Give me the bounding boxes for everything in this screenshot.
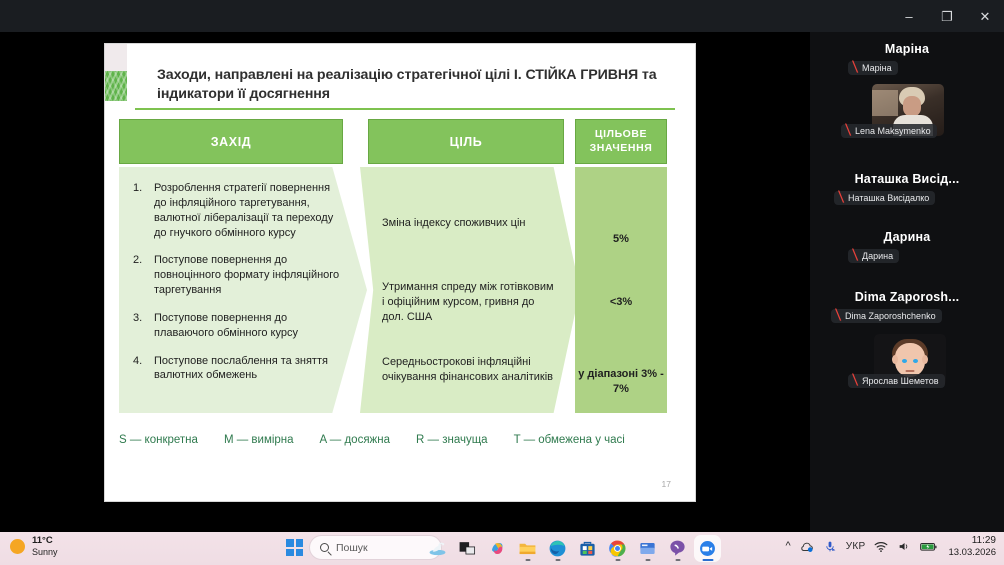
microphone-muted-icon: ╲ bbox=[851, 376, 858, 386]
participant-badge-name: Dima Zaporoshchenko bbox=[845, 311, 936, 321]
avatar-face bbox=[903, 96, 921, 117]
swan-widget-icon[interactable] bbox=[424, 535, 451, 562]
participant-badge: ╲ Дарина bbox=[848, 249, 899, 263]
window-controls: – ❐ ✕ bbox=[890, 0, 1004, 32]
column-header-measure: ЗАХІД bbox=[119, 119, 343, 164]
file-explorer-icon[interactable] bbox=[514, 535, 541, 562]
active-indicator bbox=[702, 559, 713, 561]
windows-taskbar: 11°C Sunny Пошук bbox=[0, 532, 1004, 565]
zoom-meeting-window: – ❐ ✕ Заходи, направлені на реалізацію с… bbox=[0, 0, 1004, 565]
system-tray: ^ УКР bbox=[786, 535, 996, 558]
slide-page-number: 17 bbox=[662, 479, 671, 489]
participant-badge-name: Наташка Висідалко bbox=[848, 193, 929, 203]
smart-item-a: A — досяжна bbox=[320, 434, 390, 446]
list-item-number: 2. bbox=[133, 253, 154, 298]
list-item: 3. Поступове повернення до плаваючого об… bbox=[133, 311, 341, 341]
goal-text: Середньострокові інфляційні очікування ф… bbox=[382, 355, 558, 385]
participants-sidebar[interactable]: Маріна ╲ Маріна ╲ Lena Maksymenko bbox=[810, 32, 1004, 532]
weather-widget[interactable]: 11°C Sunny bbox=[10, 536, 58, 557]
list-item-number: 3. bbox=[133, 311, 154, 341]
participant-badge-name: Маріна bbox=[862, 63, 892, 73]
slide-title: Заходи, направлені на реалізацію стратег… bbox=[157, 66, 677, 103]
avatar-mouth bbox=[906, 370, 915, 372]
decorative-block-pink bbox=[105, 44, 127, 71]
battery-charging-icon[interactable] bbox=[920, 541, 937, 552]
list-item-text: Поступове послаблення та зняття валютних… bbox=[154, 354, 341, 384]
participant-display-name: Наташка Висід... bbox=[810, 162, 1004, 186]
target-value: <3% bbox=[575, 295, 667, 310]
minimize-button[interactable]: – bbox=[890, 0, 928, 32]
column-body-measure: 1. Розроблення стратегії повернення до і… bbox=[119, 167, 367, 413]
participant-badge: ╲ Lena Maksymenko bbox=[841, 124, 937, 138]
taskbar-center: Пошук bbox=[286, 535, 442, 560]
microphone-muted-icon: ╲ bbox=[837, 193, 844, 203]
running-indicator bbox=[675, 559, 680, 561]
maximize-restore-button[interactable]: ❐ bbox=[928, 0, 966, 32]
avatar-ear-right bbox=[922, 355, 928, 364]
wifi-icon[interactable] bbox=[874, 541, 888, 553]
start-button[interactable] bbox=[286, 539, 303, 556]
microphone-muted-icon: ╲ bbox=[851, 251, 858, 261]
goal-text: Утримання спреду між готівковим і офіцій… bbox=[382, 280, 558, 326]
participant-badge: ╲ Dima Zaporoshchenko bbox=[831, 309, 942, 323]
shared-screen-stage: Заходи, направлені на реалізацію стратег… bbox=[0, 32, 810, 532]
running-indicator bbox=[555, 559, 560, 561]
chevron-up-icon[interactable]: ^ bbox=[786, 541, 791, 552]
list-item-number: 1. bbox=[133, 181, 154, 240]
clock-date: 13.03.2026 bbox=[948, 547, 996, 558]
microsoft-edge-icon[interactable] bbox=[544, 535, 571, 562]
clock[interactable]: 11:29 13.03.2026 bbox=[948, 535, 996, 558]
close-button[interactable]: ✕ bbox=[966, 0, 1004, 32]
copilot-icon[interactable] bbox=[484, 535, 511, 562]
onedrive-word-icon[interactable] bbox=[634, 535, 661, 562]
search-placeholder: Пошук bbox=[336, 542, 368, 554]
smart-item-s: S — конкретна bbox=[119, 434, 198, 446]
list-item: 4. Поступове послаблення та зняття валют… bbox=[133, 354, 341, 384]
participant-display-name: Маріна bbox=[810, 32, 1004, 56]
participant-tile[interactable]: Дарина ╲ Дарина bbox=[810, 208, 1004, 270]
decorative-block-green-pattern bbox=[105, 71, 127, 101]
running-indicator bbox=[645, 559, 650, 561]
participant-badge-name: Lena Maksymenko bbox=[855, 126, 931, 136]
weather-condition: Sunny bbox=[32, 547, 58, 557]
smart-item-t: T — обмежена у часі bbox=[514, 434, 625, 446]
cloud-icon[interactable] bbox=[800, 541, 814, 553]
participant-tile[interactable]: Маріна ╲ Маріна bbox=[810, 32, 1004, 78]
language-indicator[interactable]: УКР bbox=[846, 541, 866, 552]
microsoft-store-icon[interactable] bbox=[574, 535, 601, 562]
measure-list: 1. Розроблення стратегії повернення до і… bbox=[133, 181, 341, 396]
column-header-goal: ЦІЛЬ bbox=[368, 119, 564, 164]
list-item-number: 4. bbox=[133, 354, 154, 384]
running-indicator bbox=[615, 559, 620, 561]
column-header-target: ЦІЛЬОВЕ ЗНАЧЕННЯ bbox=[575, 119, 667, 164]
google-chrome-icon[interactable] bbox=[604, 535, 631, 562]
viber-icon[interactable] bbox=[664, 535, 691, 562]
participant-badge: ╲ Наташка Висідалко bbox=[834, 191, 935, 205]
avatar-ear-left bbox=[892, 355, 898, 364]
column-body-target: 5% <3% у діапазоні 3% - 7% bbox=[575, 167, 667, 413]
search-icon bbox=[320, 543, 329, 552]
microphone-muted-icon: ╲ bbox=[851, 63, 858, 73]
avatar-eye-left bbox=[902, 359, 907, 363]
presentation-slide: Заходи, направлені на реалізацію стратег… bbox=[105, 44, 695, 501]
task-view-icon[interactable] bbox=[454, 535, 481, 562]
participant-tile[interactable]: ╲ Ярослав Шеметов bbox=[810, 334, 1004, 406]
participant-badge: ╲ Ярослав Шеметов bbox=[848, 374, 945, 388]
smart-legend: S — конкретна M — вимірна A — досяжна R … bbox=[119, 434, 679, 446]
participant-tile[interactable]: Dima Zaporosh... ╲ Dima Zaporoshchenko bbox=[810, 270, 1004, 328]
title-underline bbox=[135, 108, 675, 110]
weather-temperature: 11°C bbox=[32, 536, 58, 547]
zoom-icon[interactable] bbox=[694, 535, 721, 562]
participant-badge-name: Ярослав Шеметов bbox=[862, 376, 939, 386]
clock-time: 11:29 bbox=[948, 535, 996, 547]
participant-tile[interactable]: ╲ Lena Maksymenko bbox=[810, 84, 1004, 146]
search-input[interactable]: Пошук bbox=[309, 535, 442, 560]
goal-text: Зміна індексу споживчих цін bbox=[382, 216, 558, 231]
list-item-text: Поступове повернення до плаваючого обмін… bbox=[154, 311, 341, 341]
list-item: 1. Розроблення стратегії повернення до і… bbox=[133, 181, 341, 240]
running-indicator bbox=[525, 559, 530, 561]
participant-badge-name: Дарина bbox=[862, 251, 893, 261]
list-item-text: Розроблення стратегії повернення до інфл… bbox=[154, 181, 341, 240]
participant-display-name: Дарина bbox=[810, 220, 1004, 244]
list-item-text: Поступове повернення до повноцінного фор… bbox=[154, 253, 341, 298]
microphone-muted-icon: ╲ bbox=[844, 126, 851, 136]
list-item: 2. Поступове повернення до повноцінного … bbox=[133, 253, 341, 298]
participant-display-name: Dima Zaporosh... bbox=[810, 280, 1004, 304]
speaker-icon[interactable] bbox=[897, 540, 911, 553]
participant-tile[interactable]: Наташка Висід... ╲ Наташка Висідалко bbox=[810, 146, 1004, 208]
microphone-muted-icon[interactable] bbox=[823, 540, 837, 553]
column-body-goal: Зміна індексу споживчих цін Утримання сп… bbox=[360, 167, 580, 413]
smart-item-m: M — вимірна bbox=[224, 434, 294, 446]
sun-icon bbox=[10, 539, 25, 554]
smart-item-r: R — значуща bbox=[416, 434, 488, 446]
video-background bbox=[872, 90, 898, 116]
taskbar-app-list bbox=[424, 535, 721, 562]
window-titlebar: – ❐ ✕ bbox=[0, 0, 1004, 32]
microphone-muted-icon: ╲ bbox=[834, 311, 841, 321]
target-value: 5% bbox=[575, 232, 667, 247]
target-value: у діапазоні 3% - 7% bbox=[575, 367, 667, 397]
avatar-eye-right bbox=[913, 359, 918, 363]
participant-badge: ╲ Маріна bbox=[848, 61, 898, 75]
